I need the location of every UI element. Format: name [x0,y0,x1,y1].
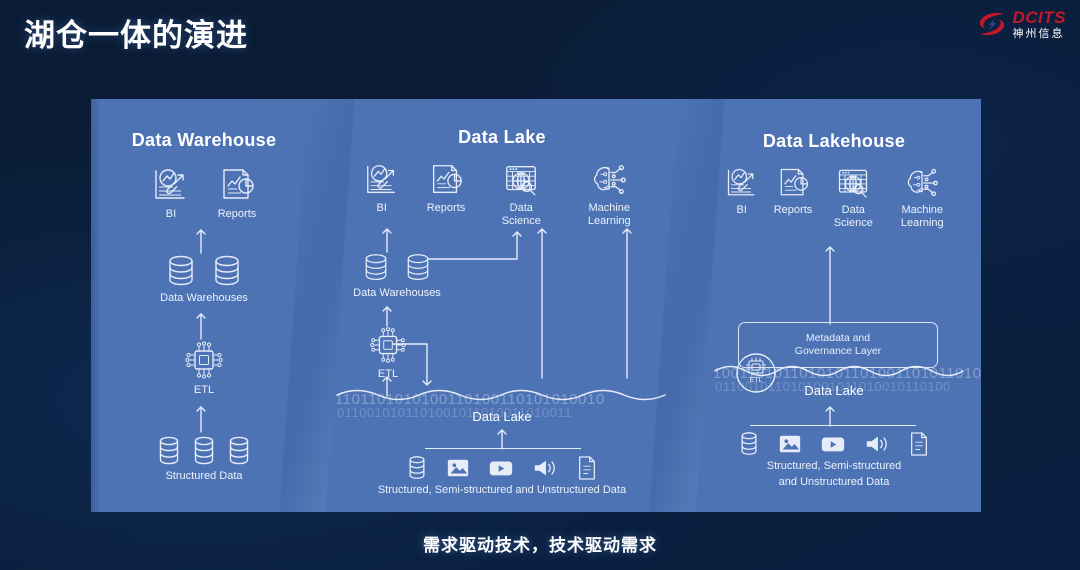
lh-data-science-label: Data Science [826,204,880,230]
brand-logo: DCITS 神州信息 [976,8,1067,40]
lh-source-rule [750,425,916,426]
dw-etl-group: ETL [164,339,244,397]
metadata-line-1: Metadata and [739,332,937,345]
column-title-data-lakehouse: Data Lakehouse [687,131,981,152]
database-icon [164,253,198,289]
dl-bi-label: BI [377,202,387,215]
lh-reports-label: Reports [774,204,813,217]
diagram-panel: Data Warehouse BI [91,99,981,512]
lh-source-group: Structured, Semi-structured and Unstruct… [699,431,969,489]
page-title: 湖仓一体的演进 [24,10,248,55]
dl-arrow-sources-to-lake [495,427,509,449]
lh-machine-learning: Machine Learning [894,165,950,230]
lh-machine-learning-label: Machine Learning [894,204,950,230]
chip-icon [183,339,225,381]
footer-caption: 需求驱动技术，技术驱动需求 [0,531,1080,556]
lh-data-science: Data Science [826,165,880,230]
lh-arrow-sources-to-lake [823,404,837,426]
lh-source-label-line-2: and Unstructured Data [699,476,969,489]
database-icon [738,431,760,457]
lh-lake-label: Data Lake [687,383,981,398]
bi-icon [724,165,760,201]
database-icon [406,455,428,481]
dl-analytics-group: BI Reports [347,161,657,228]
logo-text-en: DCITS [1013,9,1067,26]
dw-storage-group: Data Warehouses [104,253,304,305]
lh-bi-label: BI [737,204,747,217]
column-data-lake: Data Lake BI [317,99,687,512]
database-icon [210,253,244,289]
lh-source-label-line-1: Structured, Semi-structured [699,460,969,473]
lh-bi: BI [724,165,760,217]
dl-machine-learning: Machine Learning [577,161,641,228]
dw-etl-label: ETL [164,384,244,397]
dl-data-science: Data Science [491,161,551,228]
dl-reports-label: Reports [427,202,466,215]
document-icon [908,431,930,457]
dw-arrow-up-3 [194,404,208,432]
lh-arrow-metadata-to-analytics [823,244,837,324]
dcits-swirl-icon [976,8,1008,40]
dw-analytics-group: BI Reports [124,165,284,221]
column-data-warehouse: Data Warehouse BI [91,99,317,512]
dl-source-label: Structured, Semi-structured and Unstruct… [327,484,677,497]
dl-source-rule [425,448,581,449]
lh-reports: Reports [774,165,813,217]
bi-icon [363,161,401,199]
data-science-icon [502,161,540,199]
dl-storage-label: Data Warehouses [322,287,472,300]
dl-arrow-lake-to-ds [535,226,549,378]
image-icon [778,431,802,457]
machine-learning-icon [590,161,628,199]
database-icon [361,251,391,284]
dw-arrow-up-1 [194,227,208,253]
dw-source-label: Structured Data [114,470,294,483]
reports-icon [217,165,257,205]
dl-lake-label: Data Lake [317,409,687,424]
video-icon [488,455,514,481]
dw-bi: BI [151,165,191,221]
dl-bi: BI [363,161,401,215]
video-icon [820,431,846,457]
image-icon [446,455,470,481]
dl-data-science-label: Data Science [491,202,551,228]
dl-source-group: Structured, Semi-structured and Unstruct… [327,455,677,497]
dl-storage-group: Data Warehouses [322,251,472,300]
dw-reports-label: Reports [218,208,257,221]
reports-icon [427,161,465,199]
dl-arrow-lake-to-ml [620,226,634,378]
column-data-lakehouse: Data Lakehouse BI [687,99,981,512]
dl-reports: Reports [427,161,466,215]
dw-bi-label: BI [166,208,176,221]
audio-icon [532,455,558,481]
reports-icon [775,165,811,201]
data-science-icon [835,165,871,201]
lh-analytics-group: BI Reports [717,165,957,230]
column-title-data-warehouse: Data Warehouse [91,130,317,151]
dw-arrow-up-2 [194,311,208,339]
dl-arrow-up-bi [380,226,394,252]
dl-machine-learning-label: Machine Learning [577,202,641,228]
dl-arrow-etl-to-warehouse [380,304,394,326]
database-icon [191,435,217,467]
database-icon [403,251,433,284]
dw-reports: Reports [217,165,257,221]
database-icon [156,435,182,467]
database-icon [226,435,252,467]
audio-icon [864,431,890,457]
bi-icon [151,165,191,205]
logo-text-cn: 神州信息 [1013,29,1067,40]
dw-source-group: Structured Data [114,435,294,483]
dw-storage-label: Data Warehouses [104,292,304,305]
document-icon [576,455,598,481]
column-title-data-lake: Data Lake [317,127,687,148]
machine-learning-icon [904,165,940,201]
